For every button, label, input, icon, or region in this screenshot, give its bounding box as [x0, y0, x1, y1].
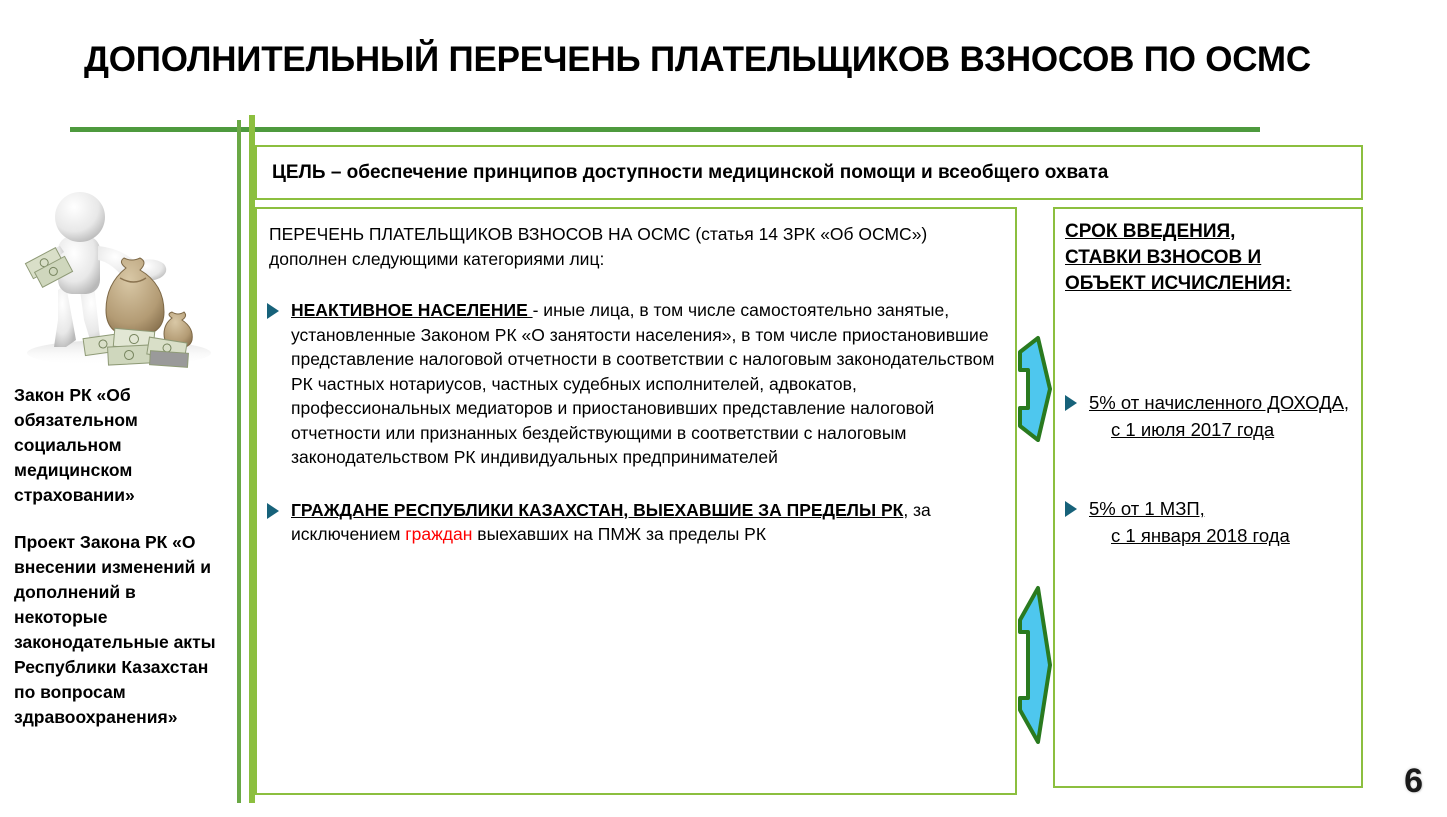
right-panel-heading: СРОК ВВЕДЕНИЯ, СТАВКИ ВЗНОСОВ И ОБЪЕКТ И…: [1065, 219, 1353, 297]
rate-item-line-2: с 1 июля 2017 года: [1089, 416, 1353, 443]
list-item: ГРАЖДАНЕ РЕСПУБЛИКИ КАЗАХСТАН, ВЫЕХАВШИЕ…: [267, 498, 1001, 547]
triangle-bullet-icon: [267, 498, 291, 547]
sidebar: Закон РК «Об обязательном социальном мед…: [14, 190, 236, 730]
rate-item: 5% от начисленного ДОХОДА, с 1 июля 2017…: [1065, 389, 1353, 443]
rate-item-line-2: с 1 января 2018 года: [1089, 522, 1353, 549]
right-panel-heading-line-3: ОБЪЕКТ ИСЧИСЛЕНИЯ:: [1065, 271, 1353, 297]
rate-item-line-1: 5% от начисленного ДОХОДА,: [1089, 392, 1349, 413]
triangle-bullet-icon: [1065, 495, 1089, 549]
triangle-bullet-icon: [1065, 389, 1089, 443]
goal-box: ЦЕЛЬ – обеспечение принципов доступности…: [255, 145, 1363, 200]
list-item: НЕАКТИВНОЕ НАСЕЛЕНИЕ - иные лица, в том …: [267, 298, 1001, 470]
rate-item-body: 5% от начисленного ДОХОДА, с 1 июля 2017…: [1089, 389, 1353, 443]
list-item-rest-b: выехавших на ПМЖ за пределы РК: [472, 524, 766, 544]
list-item-body: ГРАЖДАНЕ РЕСПУБЛИКИ КАЗАХСТАН, ВЫЕХАВШИЕ…: [291, 498, 1001, 547]
right-panel-heading-line-1: СРОК ВВЕДЕНИЯ,: [1065, 219, 1353, 245]
list-item-rest-a: - иные лица, в том числе самостоятельно …: [291, 300, 994, 467]
list-item-lead: ГРАЖДАНЕ РЕСПУБЛИКИ КАЗАХСТАН, ВЫЕХАВШИЕ…: [291, 500, 903, 520]
right-panel-heading-line-2: СТАВКИ ВЗНОСОВ И: [1065, 245, 1353, 271]
goal-text: ЦЕЛЬ – обеспечение принципов доступности…: [257, 162, 1108, 184]
flow-arrow-icon: [1016, 580, 1056, 750]
vertical-divider-inner: [237, 120, 241, 803]
sidebar-law-title: Закон РК «Об обязательном социальном мед…: [14, 383, 230, 508]
terms-rates-panel: СРОК ВВЕДЕНИЯ, СТАВКИ ВЗНОСОВ И ОБЪЕКТ И…: [1053, 207, 1363, 788]
rate-item: 5% от 1 МЗП, с 1 января 2018 года: [1065, 495, 1353, 549]
payers-list-panel: ПЕРЕЧЕНЬ ПЛАТЕЛЬЩИКОВ ВЗНОСОВ НА ОСМС (с…: [255, 207, 1017, 795]
rate-item-line-1: 5% от 1 МЗП,: [1089, 498, 1205, 519]
rate-item-body: 5% от 1 МЗП, с 1 января 2018 года: [1089, 495, 1353, 549]
list-item-highlight: граждан: [405, 524, 472, 544]
page-title: ДОПОЛНИТЕЛЬНЫЙ ПЕРЕЧЕНЬ ПЛАТЕЛЬЩИКОВ ВЗН…: [84, 40, 1384, 80]
list-item-lead: НЕАКТИВНОЕ НАСЕЛЕНИЕ: [291, 300, 533, 320]
flow-arrow-icon: [1016, 334, 1056, 444]
slide-root: ДОПОЛНИТЕЛЬНЫЙ ПЕРЕЧЕНЬ ПЛАТЕЛЬЩИКОВ ВЗН…: [0, 0, 1447, 817]
list-item-body: НЕАКТИВНОЕ НАСЕЛЕНИЕ - иные лица, в том …: [291, 298, 1001, 470]
panel-intro-text: ПЕРЕЧЕНЬ ПЛАТЕЛЬЩИКОВ ВЗНОСОВ НА ОСМС (с…: [269, 222, 1001, 272]
page-number: 6: [1404, 762, 1423, 801]
money-figure-svg: [14, 190, 234, 375]
sidebar-draft-title: Проект Закона РК «О внесении изменений и…: [14, 530, 230, 730]
money-figure-illustration: [14, 190, 234, 375]
triangle-bullet-icon: [267, 298, 291, 470]
